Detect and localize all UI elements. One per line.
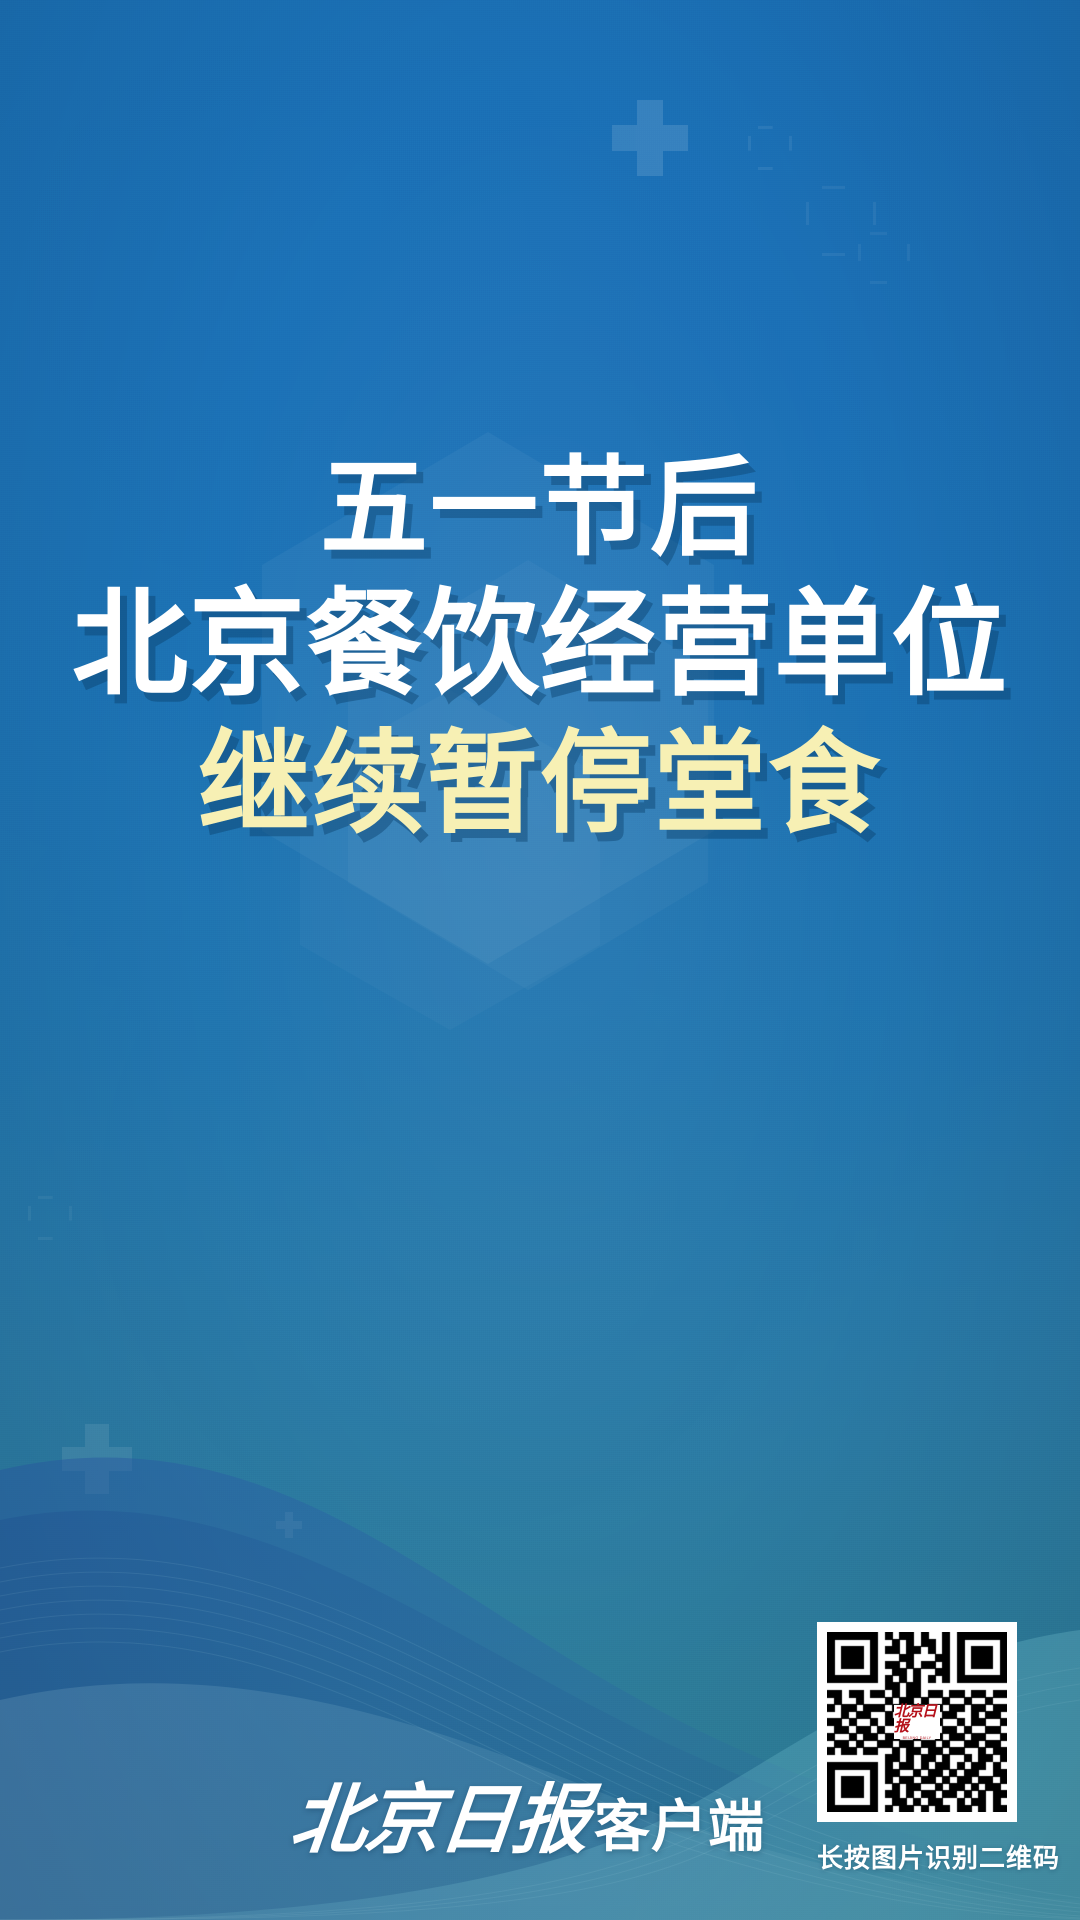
brand-logo: 北京日报 客户端 — [292, 1758, 765, 1868]
medical-cross-icon — [612, 100, 688, 176]
qr-code-block[interactable]: 北京日报 BEIJING DAILY 长按图片识别二维码 — [817, 1622, 1017, 1875]
brand-name-script: 北京日报 — [286, 1758, 594, 1868]
medical-cross-icon — [276, 1512, 302, 1538]
headline-block: 五一节后 北京餐饮经营单位 继续暂停堂食 — [0, 452, 1080, 844]
qr-logo-en: BEIJING DAILY — [903, 1736, 932, 1740]
medical-cross-icon — [28, 1196, 72, 1240]
medical-cross-icon — [748, 126, 792, 170]
headline-line-2: 北京餐饮经营单位 — [0, 584, 1080, 707]
headline-line-3: 继续暂停堂食 — [0, 725, 1080, 844]
qr-logo-zh: 北京日报 — [894, 1704, 940, 1734]
brand-app-label: 客户端 — [594, 1782, 765, 1863]
qr-code-card[interactable]: 北京日报 BEIJING DAILY — [817, 1622, 1017, 1822]
poster-canvas: 五一节后 北京餐饮经营单位 继续暂停堂食 北京日报 客户端 北京日报 BEIJI… — [0, 0, 1080, 1920]
headline-line-1: 五一节后 — [0, 452, 1080, 566]
medical-cross-icon — [858, 232, 910, 284]
medical-cross-icon — [62, 1424, 132, 1494]
qr-caption: 长按图片识别二维码 — [817, 1838, 1017, 1875]
qr-center-logo: 北京日报 BEIJING DAILY — [894, 1705, 940, 1739]
medical-cross-icon — [806, 186, 876, 256]
